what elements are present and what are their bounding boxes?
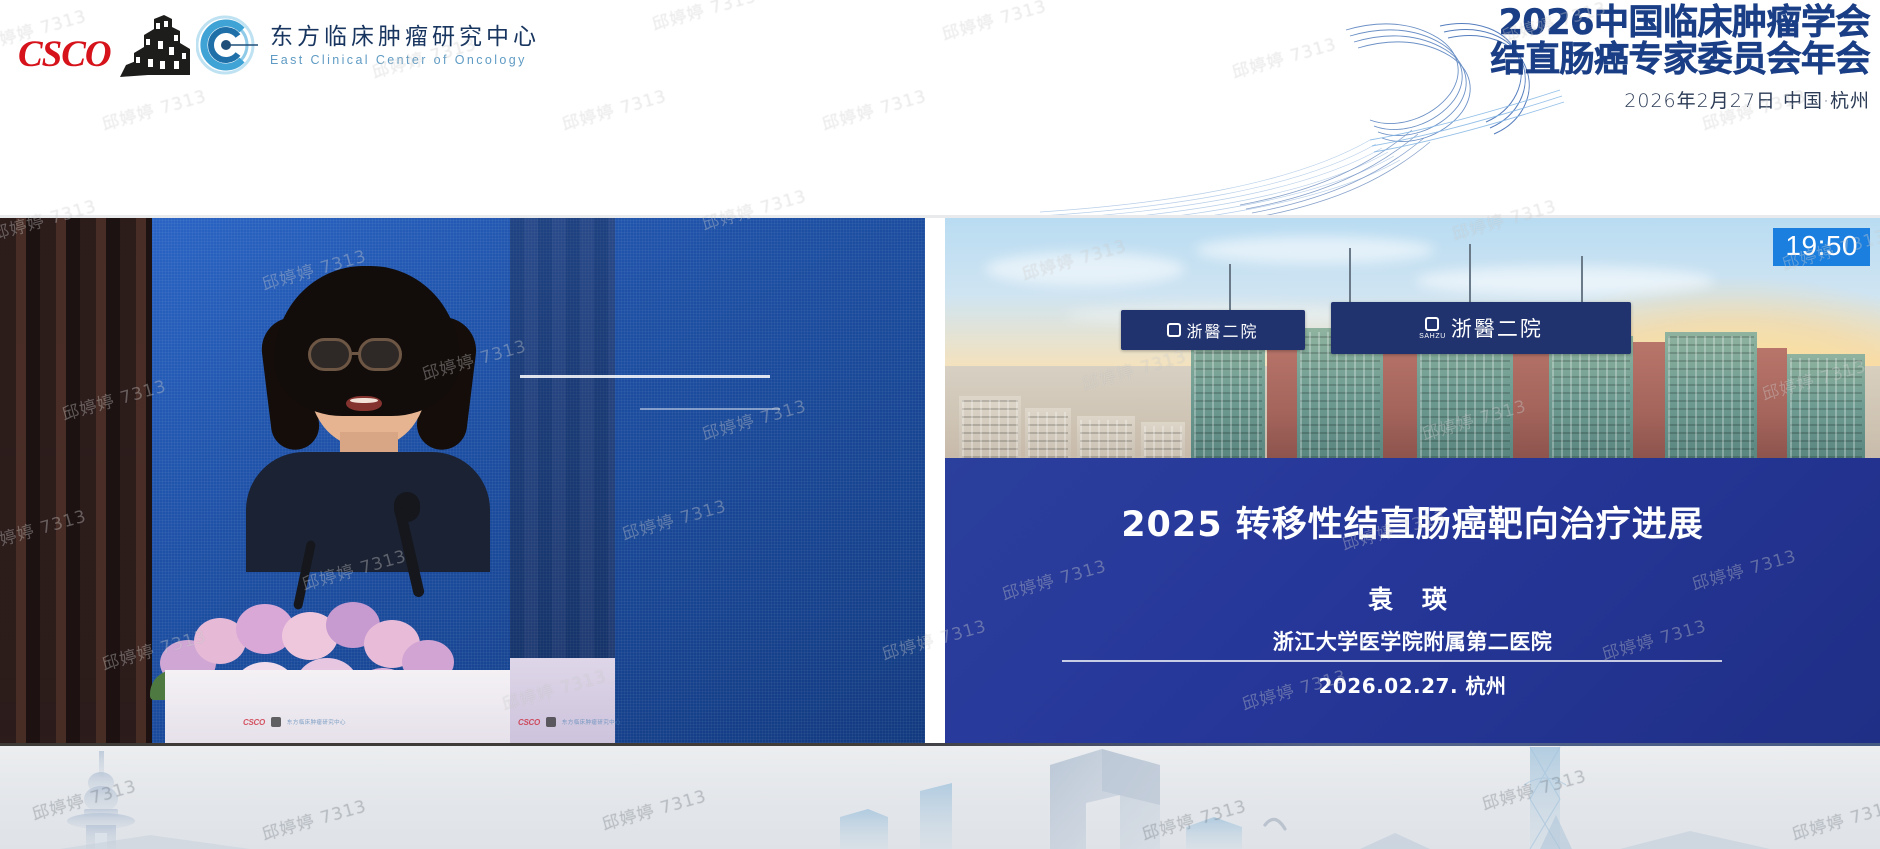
distant-building xyxy=(1077,416,1135,458)
screen-light-streak xyxy=(520,375,770,378)
cloud xyxy=(1415,266,1715,296)
podium-csco-wordmark: CSCO xyxy=(243,718,265,727)
hospital-sign-left: 浙醫二院 xyxy=(1121,310,1305,350)
distant-building xyxy=(1141,422,1185,458)
hospital-wing-edge xyxy=(1787,354,1865,458)
podium-logo-left: CSCO 东方临床肿瘤研究中心 xyxy=(243,716,346,728)
slide-affiliation: 浙江大学医学院附属第二医院 xyxy=(945,626,1880,656)
ecco-name-en: East Clinical Center of Oncology xyxy=(270,53,540,67)
great-wall-icon xyxy=(114,13,196,79)
speaker-jacket xyxy=(246,452,490,572)
speaker-video-feed[interactable]: CSCO 东方临床肿瘤研究中心 CSCO 东方临床肿瘤研究中心 xyxy=(0,218,925,743)
conference-date-location: 2026年2月27日 中国·杭州 xyxy=(1490,86,1870,113)
hospital-column xyxy=(1267,340,1297,458)
cloud xyxy=(1195,236,1435,264)
hangzhou-skyline-icon xyxy=(0,743,1880,849)
speaker-glasses-left xyxy=(308,338,352,371)
hospital-column xyxy=(1757,348,1787,458)
video-stage: CSCO 东方临床肿瘤研究中心 CSCO 东方临床肿瘤研究中心 xyxy=(0,218,1880,743)
conference-title-line1: 2026中国临床肿瘤学会 xyxy=(1490,4,1870,43)
hospital-wing-left xyxy=(1191,332,1265,458)
podium-wall-icon-2 xyxy=(546,717,556,727)
ecco-name-cn: 东方临床肿瘤研究中心 xyxy=(270,23,540,52)
sahzu-mark-icon-main xyxy=(1425,317,1439,331)
conference-title-block: 2026中国临床肿瘤学会 结直肠癌专家委员会年会 2026年2月27日 中国·杭… xyxy=(1490,4,1870,113)
hospital-sign-cn: 浙醫二院 xyxy=(1451,313,1543,343)
speaker-glasses-bridge xyxy=(352,352,360,355)
speaker-glasses-right xyxy=(358,338,402,371)
page-header: CSCO xyxy=(0,0,1880,218)
podium-logo-right: CSCO 东方临床肿瘤研究中心 xyxy=(518,716,621,728)
slide-speaker-name: 袁 瑛 xyxy=(945,580,1880,616)
hospital-column xyxy=(1633,342,1665,458)
slide-divider xyxy=(1062,660,1722,662)
distant-building xyxy=(959,396,1021,458)
csco-wordmark: CSCO xyxy=(18,36,111,73)
sahzu-mark-icon xyxy=(1167,323,1181,337)
rooftop-mast xyxy=(1469,244,1471,306)
ecco-logo: 东方临床肿瘤研究中心 East Clinical Center of Oncol… xyxy=(196,8,540,82)
podium-front-panel: CSCO 东方临床肿瘤研究中心 xyxy=(165,670,510,743)
hospital-wing-far xyxy=(1665,332,1757,458)
hospital-sign-main: SAHZU 浙醫二院 xyxy=(1331,302,1631,354)
hospital-sign-cn-left: 浙醫二院 xyxy=(1186,318,1258,342)
slide-title-panel: 2025 转移性结直肠癌靶向治疗进展 袁 瑛 浙江大学医学院附属第二医院 202… xyxy=(945,458,1880,743)
slide-title: 2025 转移性结直肠癌靶向治疗进展 xyxy=(945,496,1880,547)
slide-video-feed[interactable]: 浙醫二院 SAHZU 浙醫二院 2025 转移性结直肠癌靶向治疗进展 袁 瑛 浙… xyxy=(945,218,1880,743)
conference-title-line2: 结直肠癌专家委员会年会 xyxy=(1490,41,1870,80)
cloud xyxy=(985,252,1185,286)
podium-csco-wordmark-2: CSCO xyxy=(518,718,540,727)
speaker-mouth xyxy=(346,396,382,411)
timestamp-badge: 19:50 xyxy=(1773,228,1870,266)
podium-ecco-label-2: 东方临床肿瘤研究中心 xyxy=(562,718,621,726)
speaker-figure xyxy=(252,266,482,566)
rooftop-mast xyxy=(1349,248,1351,310)
screen-light-streak-secondary xyxy=(640,408,780,410)
page-footer xyxy=(0,743,1880,849)
hall-curtain-left xyxy=(0,218,152,743)
hospital-tower xyxy=(1549,336,1633,458)
broadcast-page: CSCO xyxy=(0,0,1880,849)
podium-side-panel: CSCO 东方临床肿瘤研究中心 xyxy=(510,658,615,743)
podium-ecco-label: 东方临床肿瘤研究中心 xyxy=(287,718,346,726)
distant-building xyxy=(1025,408,1071,458)
hospital-sign-en: SAHZU xyxy=(1419,333,1446,340)
slide-header-photo: 浙醫二院 SAHZU 浙醫二院 xyxy=(945,218,1880,458)
podium-wall-icon xyxy=(271,717,281,727)
concentric-c-icon xyxy=(196,14,258,76)
csco-logo: CSCO xyxy=(18,10,198,82)
slide-date-location: 2026.02.27. 杭州 xyxy=(945,670,1880,699)
